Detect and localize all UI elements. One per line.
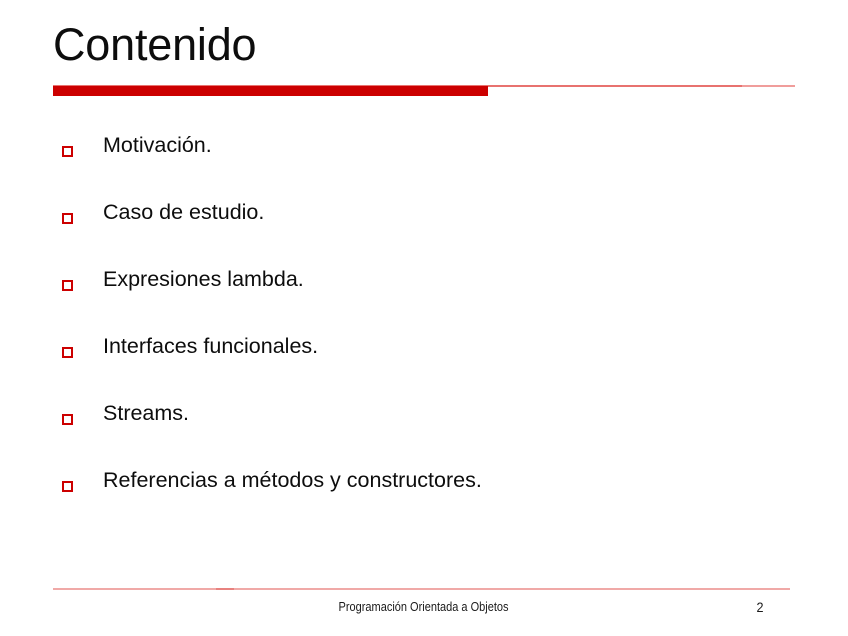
content-bullet-list: Motivación. Caso de estudio. Expresiones… [53, 128, 795, 530]
page-title: Contenido [53, 17, 256, 73]
title-divider-thin-accent [742, 85, 795, 87]
footer-title: Programación Orientada a Objetos [50, 598, 796, 616]
footer-divider [53, 588, 790, 590]
square-bullet-icon [62, 280, 73, 291]
title-divider [53, 85, 795, 96]
footer-divider-accent [216, 588, 234, 590]
title-divider-thick-bar [53, 86, 488, 96]
square-bullet-icon [62, 213, 73, 224]
square-bullet-icon [62, 414, 73, 425]
slide: Contenido Motivación. Caso de estudio. E… [0, 0, 848, 636]
list-item: Referencias a métodos y constructores. [53, 463, 795, 530]
list-item-label: Interfaces funcionales. [103, 329, 318, 363]
list-item-label: Caso de estudio. [103, 195, 264, 229]
list-item: Streams. [53, 396, 795, 463]
page-number: 2 [749, 598, 771, 616]
list-item-label: Motivación. [103, 128, 212, 162]
list-item: Interfaces funcionales. [53, 329, 795, 396]
square-bullet-icon [62, 146, 73, 157]
square-bullet-icon [62, 481, 73, 492]
list-item: Caso de estudio. [53, 195, 795, 262]
list-item: Expresiones lambda. [53, 262, 795, 329]
list-item-label: Expresiones lambda. [103, 262, 304, 296]
square-bullet-icon [62, 347, 73, 358]
list-item-label: Streams. [103, 396, 189, 430]
list-item-label: Referencias a métodos y constructores. [103, 463, 482, 497]
list-item: Motivación. [53, 128, 795, 195]
